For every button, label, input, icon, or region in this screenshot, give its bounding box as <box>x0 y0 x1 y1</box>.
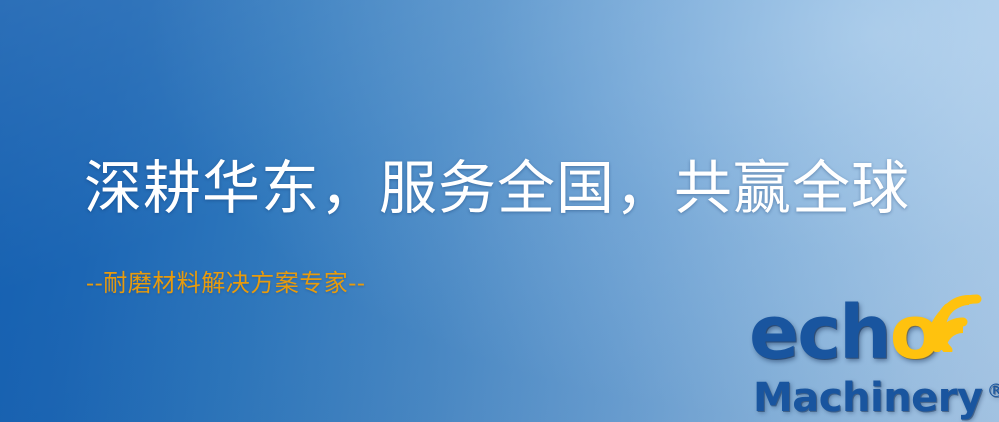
promotional-banner: 深耕华东，服务全国，共赢全球 --耐磨材料解决方案专家-- ech o <box>0 0 999 422</box>
registered-trademark-icon: ® <box>987 380 999 402</box>
logo-tagline: Machinery® <box>753 368 999 421</box>
company-logo[interactable]: ech o Machinery® <box>745 296 999 422</box>
banner-subtitle: --耐磨材料解决方案专家-- <box>86 268 365 298</box>
banner-headline: 深耕华东，服务全国，共赢全球 <box>84 152 910 224</box>
signal-waves-icon <box>927 292 993 352</box>
logo-echo-letters: ech <box>749 296 890 370</box>
logo-tagline-text: Machinery <box>753 375 983 421</box>
logo-wordmark: ech o <box>749 296 940 370</box>
